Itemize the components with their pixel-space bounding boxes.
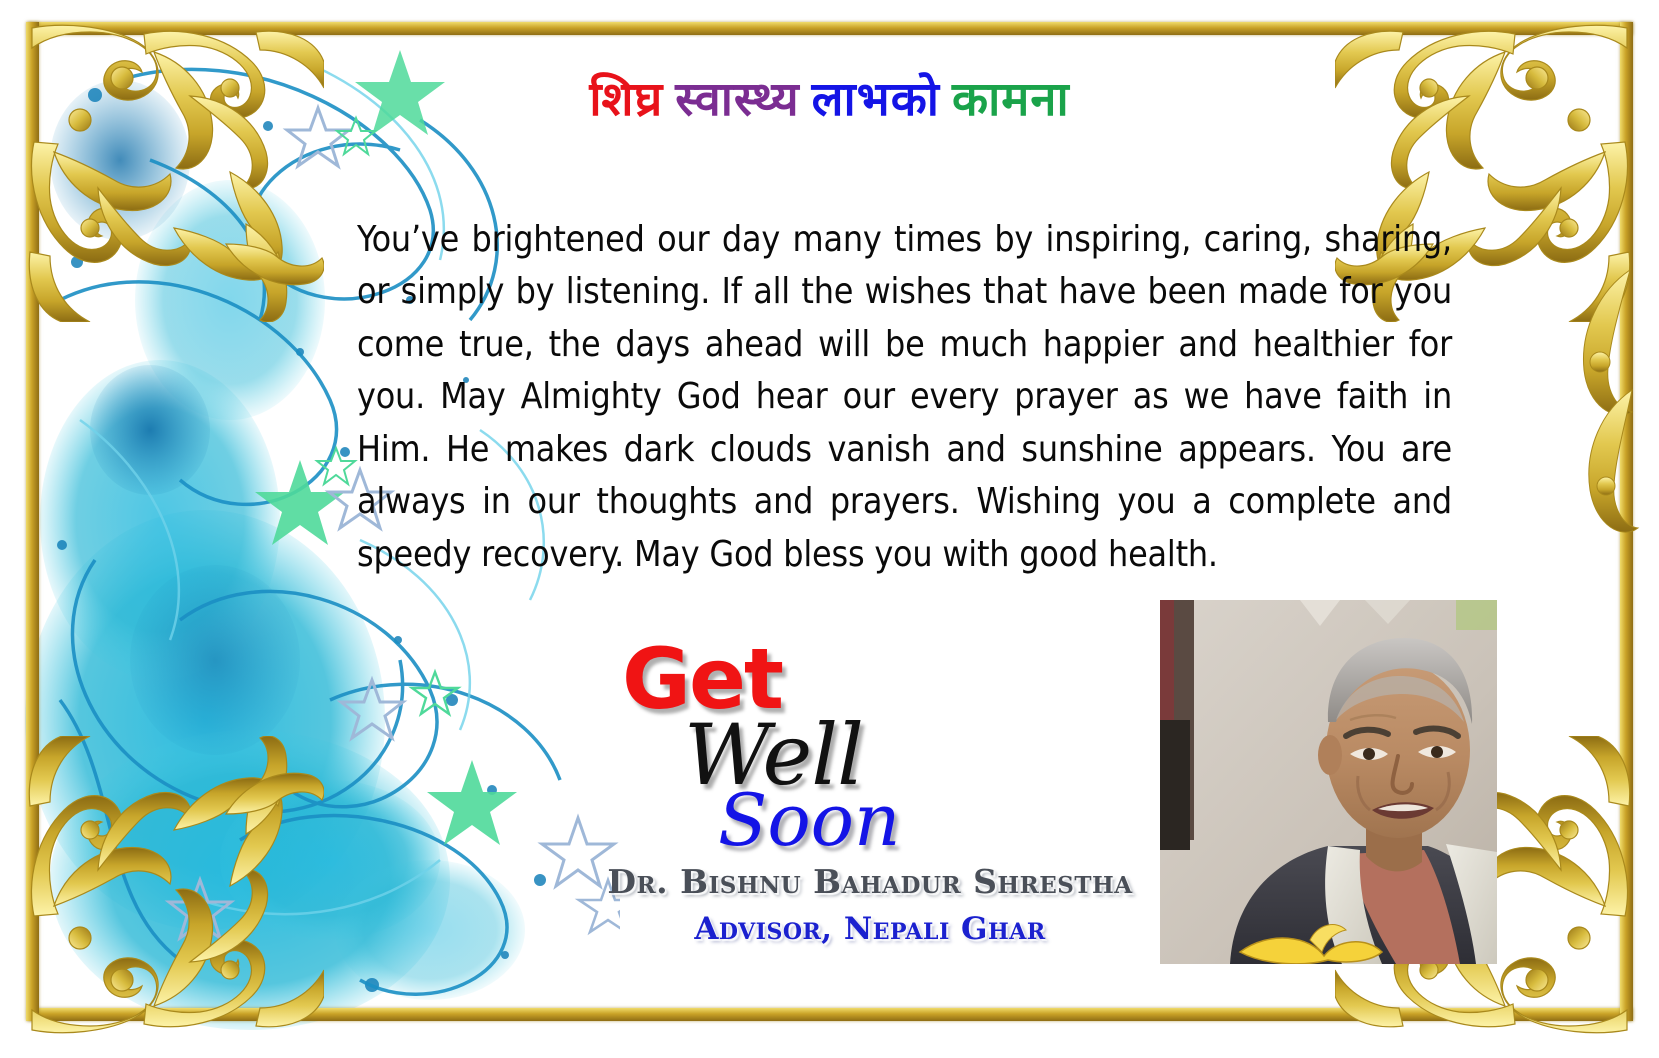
get-well-soon-graphic: Get Well Soon: [600, 630, 980, 860]
message-body: You’ve brightened our day many times by …: [357, 214, 1452, 582]
title-word-1: शिघ्र: [589, 72, 663, 127]
page-title: शिघ्रस्वास्थ्यलाभकोकामना: [0, 74, 1659, 126]
frame-left-bar: [26, 22, 39, 1021]
signer-name: Dr. Bishnu Bahadur Shrestha: [560, 862, 1180, 901]
frame-right-bar: [1620, 22, 1633, 1021]
greeting-card: शिघ्रस्वास्थ्यलाभकोकामना You’ve brighten…: [0, 0, 1659, 1058]
title-word-4: कामना: [952, 72, 1070, 127]
portrait-photo: [1160, 600, 1497, 964]
signer-role: Advisor, Nepali Ghar: [560, 911, 1180, 947]
portrait-illustration: [1160, 600, 1497, 964]
title-word-3: लाभको: [812, 72, 940, 127]
corner-ornament-top-left: [0, 0, 324, 322]
greeting-word-soon: Soon: [718, 778, 900, 862]
signature-block: Dr. Bishnu Bahadur Shrestha Advisor, Nep…: [560, 862, 1180, 947]
frame-top-bar: [28, 22, 1633, 35]
title-word-2: स्वास्थ्य: [675, 72, 799, 127]
frame-bottom-bar: [28, 1008, 1633, 1021]
